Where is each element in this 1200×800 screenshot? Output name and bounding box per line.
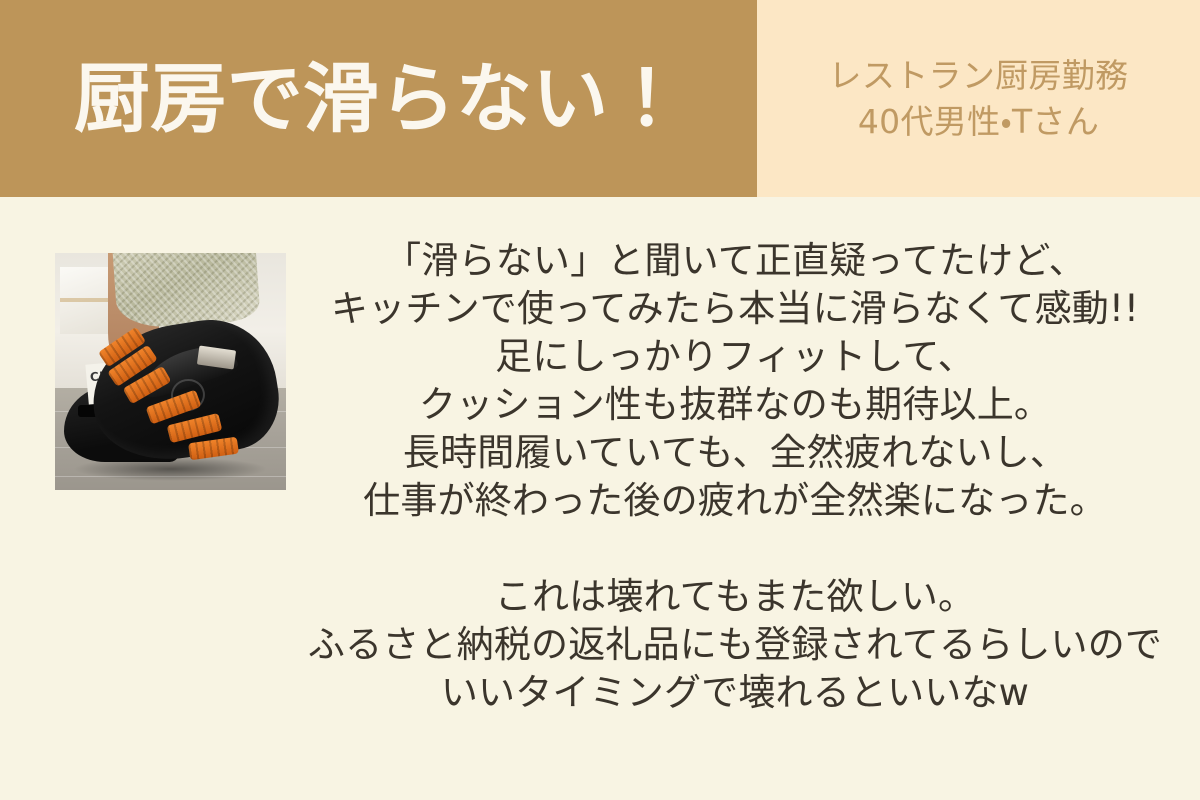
testimonial-line: ふるさと納税の返礼品にも登録されてるらしいので (300, 621, 1170, 669)
testimonial-paragraph-1: 「滑らない」と聞いて正直疑ってたけど、 キッチンで使ってみたら本当に滑らなくて感… (300, 237, 1170, 525)
header-banner: 厨房で滑らない！ レストラン厨房勤務 40代男性・Tさん (0, 0, 1200, 197)
testimonial-line: 長時間履いていても、全然疲れないし、 (300, 429, 1170, 477)
paragraph-spacer (300, 525, 1170, 573)
header-title-panel: 厨房で滑らない！ (0, 0, 757, 197)
photo-trouser-texture (112, 253, 260, 329)
header-subtitle-panel: レストラン厨房勤務 40代男性・Tさん (757, 0, 1200, 197)
testimonial-line: 「滑らない」と聞いて正直疑ってたけど、 (300, 237, 1170, 285)
content-area: CEN 「滑らない」と聞いて正直疑ってたけど、 キッチンで使ってみたら本当に滑ら (0, 197, 1200, 800)
photo-ground-shadow (73, 457, 267, 481)
photo-trouser (112, 253, 260, 329)
photo-scene: CEN (55, 253, 286, 490)
photo-window (60, 267, 111, 333)
testimonial-line: クッション性も抜群なのも期待以上。 (300, 381, 1170, 429)
testimonial-line: 仕事が終わった後の疲れが全然楽になった。 (300, 477, 1170, 525)
testimonial-paragraph-2: これは壊れてもまた欲しい。 ふるさと納税の返礼品にも登録されてるらしいので いい… (300, 573, 1170, 717)
product-photo: CEN (55, 253, 286, 490)
testimonial-text: 「滑らない」と聞いて正直疑ってたけど、 キッチンで使ってみたら本当に滑らなくて感… (300, 237, 1170, 717)
reviewer-profile: 40代男性・Tさん (858, 99, 1099, 145)
testimonial-line: これは壊れてもまた欲しい。 (300, 573, 1170, 621)
testimonial-line: いいタイミングで壊れるといいなw (300, 669, 1170, 717)
testimonial-line: キッチンで使ってみたら本当に滑らなくて感動!! (300, 285, 1170, 333)
testimonial-poster: 厨房で滑らない！ レストラン厨房勤務 40代男性・Tさん (0, 0, 1200, 800)
testimonial-line: 足にしっかりフィットして、 (300, 333, 1170, 381)
page-title: 厨房で滑らない！ (74, 61, 685, 137)
reviewer-occupation: レストラン厨房勤務 (829, 53, 1129, 99)
